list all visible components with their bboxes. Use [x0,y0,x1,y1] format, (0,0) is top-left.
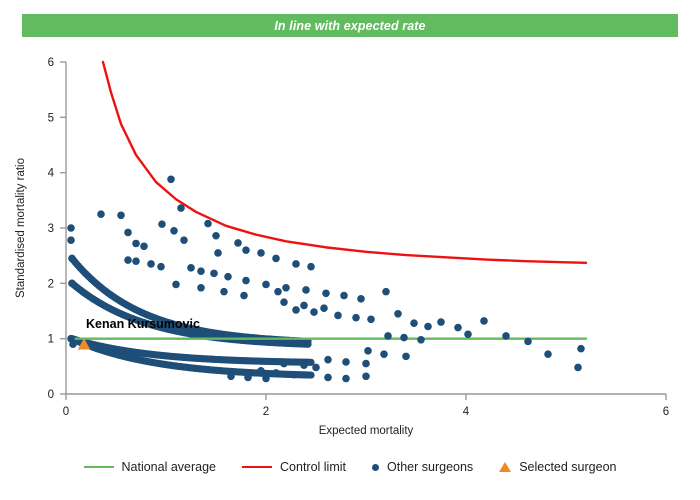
data-point [324,374,332,382]
y-tick-label: 0 [48,389,54,401]
legend-item-control-limit[interactable]: Control limit [242,460,346,474]
data-point [394,310,402,318]
y-tick-label: 1 [48,334,54,346]
y-tick-label: 4 [48,168,55,180]
axes-group [66,62,666,394]
data-point [197,284,205,292]
legend-label: Control limit [280,460,346,474]
data-point [342,358,350,366]
y-tick-label: 2 [48,278,54,290]
data-point [67,224,75,232]
x-tick-label: 6 [663,406,669,418]
data-point [244,374,252,382]
data-point [197,267,205,275]
data-point [177,204,185,212]
data-point [367,316,375,324]
data-point [574,364,582,372]
line-swatch-icon [84,466,114,468]
data-point [140,242,148,250]
data-point [380,350,388,358]
y-tick-label: 5 [48,112,54,124]
legend-item-other-surgeons[interactable]: Other surgeons [372,460,473,474]
data-point [417,336,425,344]
data-point [320,304,328,312]
data-point [362,372,370,380]
data-point [300,302,308,310]
x-tick-label: 4 [463,406,470,418]
legend-item-selected-surgeon[interactable]: Selected surgeon [499,460,616,474]
funnel-band-point [304,341,311,348]
data-point [312,364,320,372]
data-point [147,260,155,268]
data-point [324,356,332,364]
data-point [334,312,342,320]
data-point [214,249,222,257]
data-point [364,347,372,355]
legend-item-national-average[interactable]: National average [84,460,217,474]
chart-legend: National averageControl limitOther surge… [0,452,700,482]
data-point [157,263,165,271]
scatter-plot-svg: 0123456 0246 Kenan Kursumovic Expected m… [0,40,700,450]
data-point [322,289,330,297]
data-point [68,280,76,288]
data-point [480,317,488,325]
data-point [158,220,166,228]
data-point [224,273,232,281]
y-axis-ticks: 0123456 [48,57,66,401]
data-point [204,220,212,228]
data-point [424,323,432,331]
data-point [400,334,408,342]
data-point [310,308,318,316]
data-point [502,332,510,340]
data-point [242,277,250,285]
data-point [67,236,75,244]
data-point [454,324,462,332]
data-point [210,270,218,278]
data-point [240,292,248,300]
line-swatch-icon [242,466,272,468]
y-tick-label: 6 [48,57,54,69]
funnel-band-point [307,371,314,378]
data-point [544,350,552,358]
data-point [357,295,365,303]
data-point [132,257,140,265]
data-point [69,340,77,348]
data-point [272,255,280,263]
legend-label: National average [122,460,217,474]
x-tick-label: 2 [263,406,269,418]
data-point [187,264,195,272]
data-point [242,246,250,254]
data-point [262,375,270,383]
data-point [220,288,228,296]
data-point [342,375,350,383]
chart-canvas: 0123456 0246 Kenan Kursumovic Expected m… [0,40,700,450]
data-point [340,292,348,300]
data-point [282,284,290,292]
data-point [464,330,472,338]
data-point [384,332,392,340]
data-point [97,210,105,218]
data-point [292,306,300,314]
x-axis-title: Expected mortality [319,425,414,437]
data-point [290,371,298,379]
data-point [262,281,270,289]
data-point [257,249,265,257]
data-point [300,361,308,369]
data-point [410,319,418,327]
dot-swatch-icon [372,464,379,471]
data-point [170,227,178,235]
annotation-layer: Kenan Kursumovic [86,317,200,331]
data-point [352,314,360,322]
data-point [257,367,265,375]
x-axis-ticks: 0246 [63,394,669,418]
data-point [362,360,370,368]
data-point [68,255,76,263]
data-point [274,288,282,296]
data-point [402,353,410,361]
data-point [167,176,175,184]
legend-label: Other surgeons [387,460,473,474]
x-tick-label: 0 [63,406,69,418]
data-point [302,286,310,294]
data-point [280,360,288,368]
data-point [437,318,445,326]
data-point [280,298,288,306]
data-point [307,263,315,271]
data-point [577,345,585,353]
data-point [172,281,180,289]
y-tick-label: 3 [48,223,54,235]
data-point [124,256,132,264]
selected-surgeon-label: Kenan Kursumovic [86,317,200,331]
data-point [272,369,280,377]
data-point [180,236,188,244]
data-point [212,232,220,240]
data-point [382,288,390,296]
data-point [292,260,300,268]
status-banner: In line with expected rate [22,14,678,37]
data-point [124,229,132,237]
triangle-swatch-icon [499,462,511,472]
data-point [132,240,140,248]
series-layer [67,62,586,382]
status-banner-text: In line with expected rate [274,19,425,33]
legend-label: Selected surgeon [519,460,616,474]
funnel-plot-card: In line with expected rate 0123456 0246 … [0,0,700,500]
data-point [234,239,242,247]
data-point [524,338,532,346]
y-axis-title: Standardised mortality ratio [15,158,27,298]
data-point [227,372,235,380]
data-point [117,211,125,219]
